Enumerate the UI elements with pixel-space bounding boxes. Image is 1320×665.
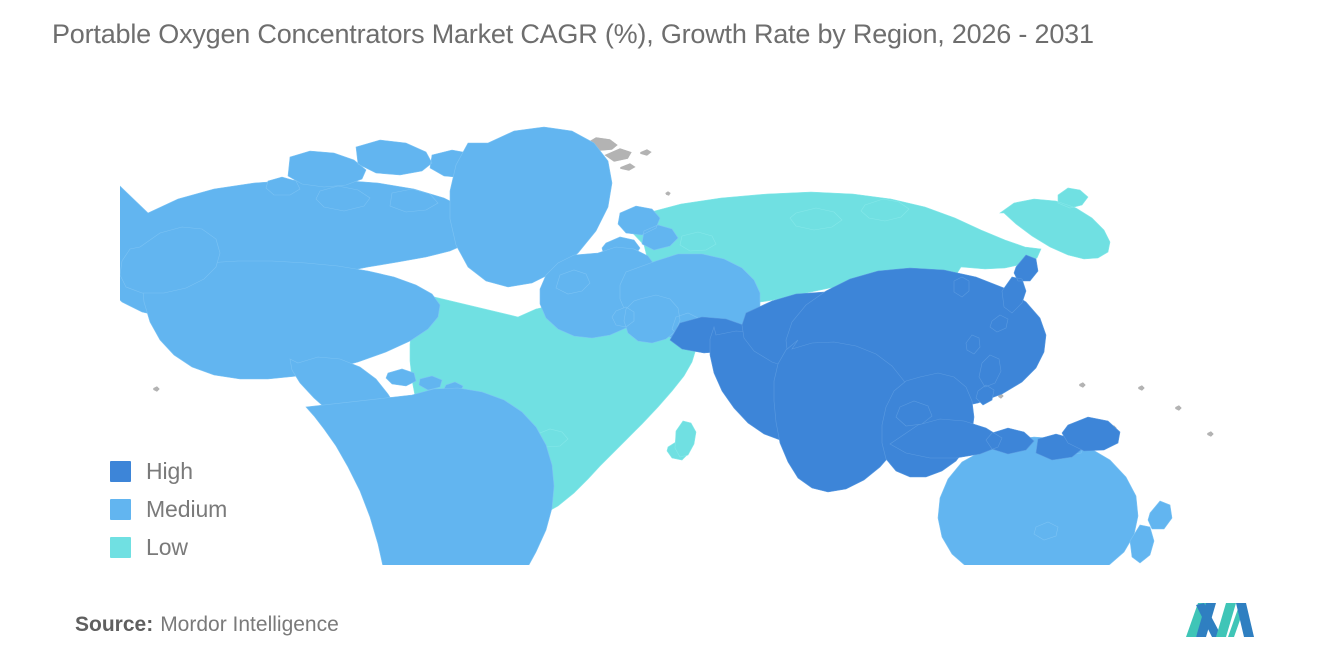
region-africa-madagascar — [675, 421, 696, 457]
legend-label-high: High — [146, 458, 193, 485]
legend-swatch-high — [110, 461, 131, 482]
legend-label-medium: Medium — [146, 496, 227, 523]
legend: High Medium Low — [110, 452, 330, 566]
logo-svg — [1184, 601, 1256, 639]
legend-label-low: Low — [146, 534, 188, 561]
page-title: Portable Oxygen Concentrators Market CAG… — [52, 19, 1094, 50]
legend-item-low: Low — [110, 528, 330, 566]
legend-item-high: High — [110, 452, 330, 490]
legend-item-medium: Medium — [110, 490, 330, 528]
source-attribution: Source:Mordor Intelligence — [75, 613, 339, 637]
region-south-america — [306, 388, 554, 565]
legend-swatch-low — [110, 537, 131, 558]
source-value: Mordor Intelligence — [160, 613, 339, 636]
mordor-intelligence-logo — [1184, 601, 1256, 639]
legend-swatch-medium — [110, 499, 131, 520]
region-indonesia — [890, 401, 1082, 460]
source-label: Source: — [75, 613, 153, 636]
